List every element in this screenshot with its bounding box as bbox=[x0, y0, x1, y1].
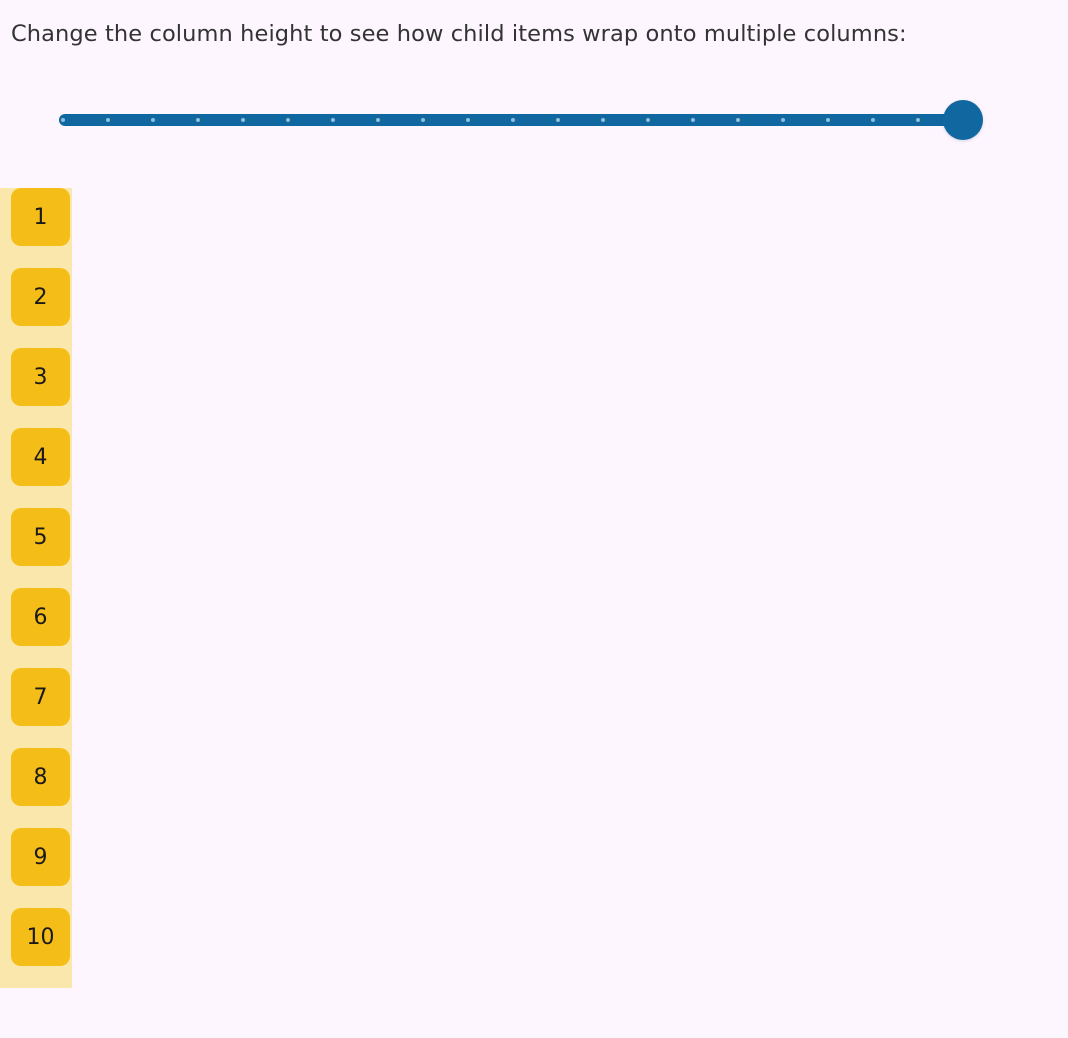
slider-tick bbox=[466, 118, 470, 122]
column-item: 5 bbox=[11, 508, 70, 566]
slider-tick bbox=[376, 118, 380, 122]
instruction-text: Change the column height to see how chil… bbox=[11, 19, 1051, 49]
slider-tick bbox=[331, 118, 335, 122]
slider-tick-marks bbox=[59, 114, 963, 126]
column-item: 4 bbox=[11, 428, 70, 486]
column-item: 10 bbox=[11, 908, 70, 966]
slider-thumb[interactable] bbox=[943, 100, 983, 140]
column-item: 2 bbox=[11, 268, 70, 326]
slider-tick bbox=[556, 118, 560, 122]
slider-tick bbox=[286, 118, 290, 122]
flex-column-container: 12345678910 bbox=[0, 188, 72, 988]
column-item-label: 10 bbox=[27, 925, 55, 950]
column-item-label: 6 bbox=[34, 605, 48, 630]
column-item-label: 4 bbox=[34, 445, 48, 470]
column-item-label: 3 bbox=[34, 365, 48, 390]
column-item: 9 bbox=[11, 828, 70, 886]
column-item-label: 5 bbox=[34, 525, 48, 550]
slider-tick bbox=[691, 118, 695, 122]
slider-tick bbox=[421, 118, 425, 122]
column-item: 7 bbox=[11, 668, 70, 726]
slider-tick bbox=[646, 118, 650, 122]
slider-tick bbox=[781, 118, 785, 122]
column-item: 1 bbox=[11, 188, 70, 246]
column-item-label: 1 bbox=[34, 205, 48, 230]
slider-tick bbox=[151, 118, 155, 122]
column-item: 6 bbox=[11, 588, 70, 646]
column-item-label: 7 bbox=[34, 685, 48, 710]
column-item: 3 bbox=[11, 348, 70, 406]
column-item-label: 2 bbox=[34, 285, 48, 310]
slider-tick bbox=[736, 118, 740, 122]
slider-tick bbox=[601, 118, 605, 122]
slider-tick bbox=[106, 118, 110, 122]
column-height-slider[interactable] bbox=[59, 100, 983, 140]
slider-tick bbox=[241, 118, 245, 122]
slider-tick bbox=[826, 118, 830, 122]
slider-tick bbox=[61, 118, 65, 122]
slider-tick bbox=[511, 118, 515, 122]
column-item-label: 8 bbox=[34, 765, 48, 790]
column-item: 8 bbox=[11, 748, 70, 806]
column-item-label: 9 bbox=[34, 845, 48, 870]
slider-tick bbox=[196, 118, 200, 122]
slider-tick bbox=[871, 118, 875, 122]
slider-tick bbox=[916, 118, 920, 122]
